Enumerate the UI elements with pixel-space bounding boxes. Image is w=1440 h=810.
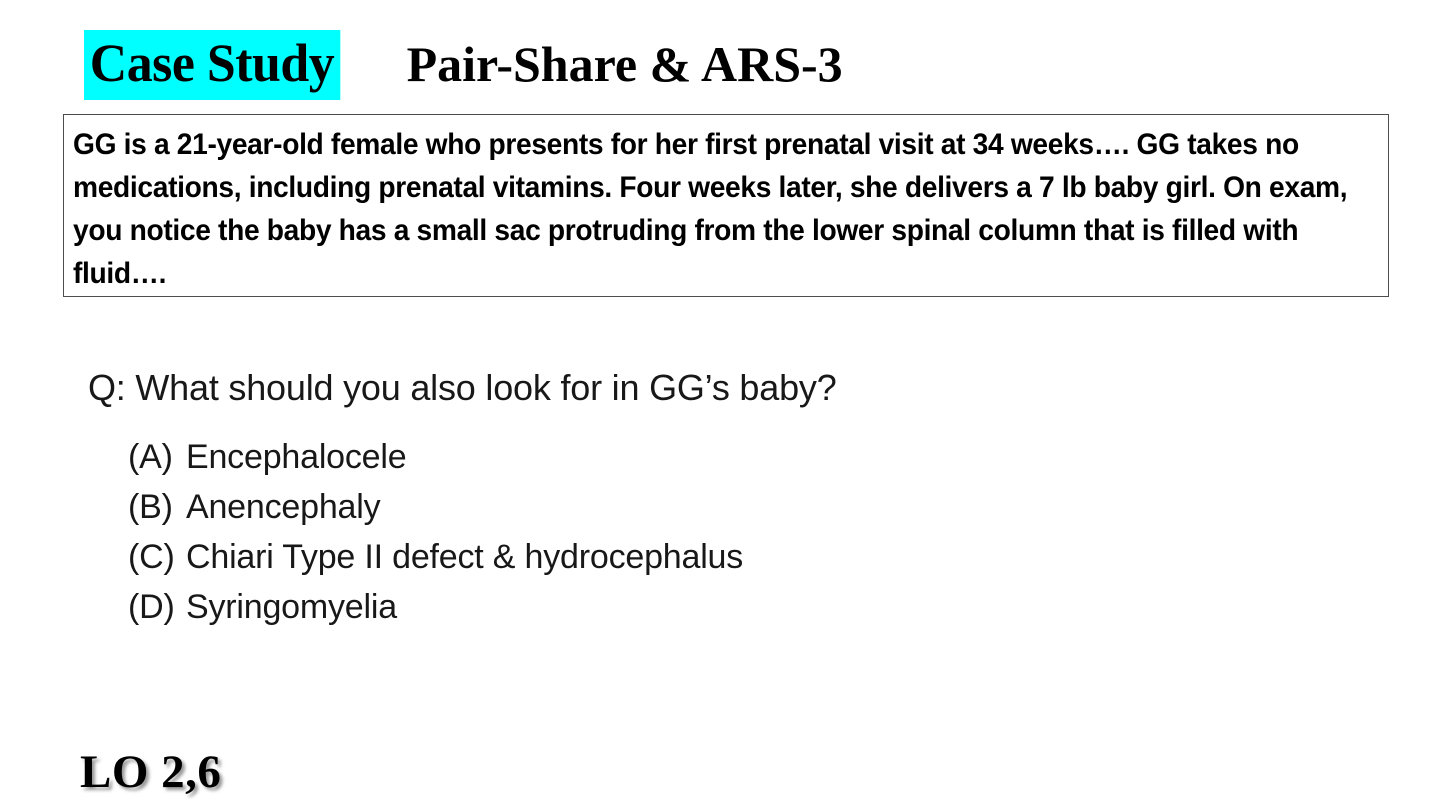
answer-option-b-marker: (B)	[128, 482, 186, 532]
answer-option-d[interactable]: (D) Syringomyelia	[128, 582, 743, 632]
answer-option-c-label: Chiari Type II defect & hydrocephalus	[186, 532, 743, 582]
slide-title: Case Study Pair-Share & ARS-3	[84, 30, 843, 100]
case-study-highlight-label: Case Study	[84, 30, 340, 100]
case-vignette-text: GG is a 21-year-old female who presents …	[73, 123, 1376, 295]
answer-option-a-label: Encephalocele	[186, 432, 406, 482]
case-text-box: GG is a 21-year-old female who presents …	[63, 114, 1389, 297]
answer-option-a[interactable]: (A) Encephalocele	[128, 432, 743, 482]
answer-option-d-marker: (D)	[128, 582, 186, 632]
answer-option-c-marker: (C)	[128, 532, 186, 582]
slide-title-main-label: Pair-Share & ARS-3	[407, 35, 843, 94]
slide-canvas: Case Study Pair-Share & ARS-3 GG is a 21…	[0, 0, 1440, 810]
learning-objectives-label: LO 2,6	[80, 744, 221, 800]
answer-option-b-label: Anencephaly	[186, 482, 380, 532]
answer-option-c[interactable]: (C) Chiari Type II defect & hydrocephalu…	[128, 532, 743, 582]
answer-option-d-label: Syringomyelia	[186, 582, 397, 632]
question-prompt: Q: What should you also look for in GG’s…	[88, 366, 837, 410]
answer-option-b[interactable]: (B) Anencephaly	[128, 482, 743, 532]
answer-options-list: (A) Encephalocele (B) Anencephaly (C) Ch…	[128, 432, 743, 632]
answer-option-a-marker: (A)	[128, 432, 186, 482]
